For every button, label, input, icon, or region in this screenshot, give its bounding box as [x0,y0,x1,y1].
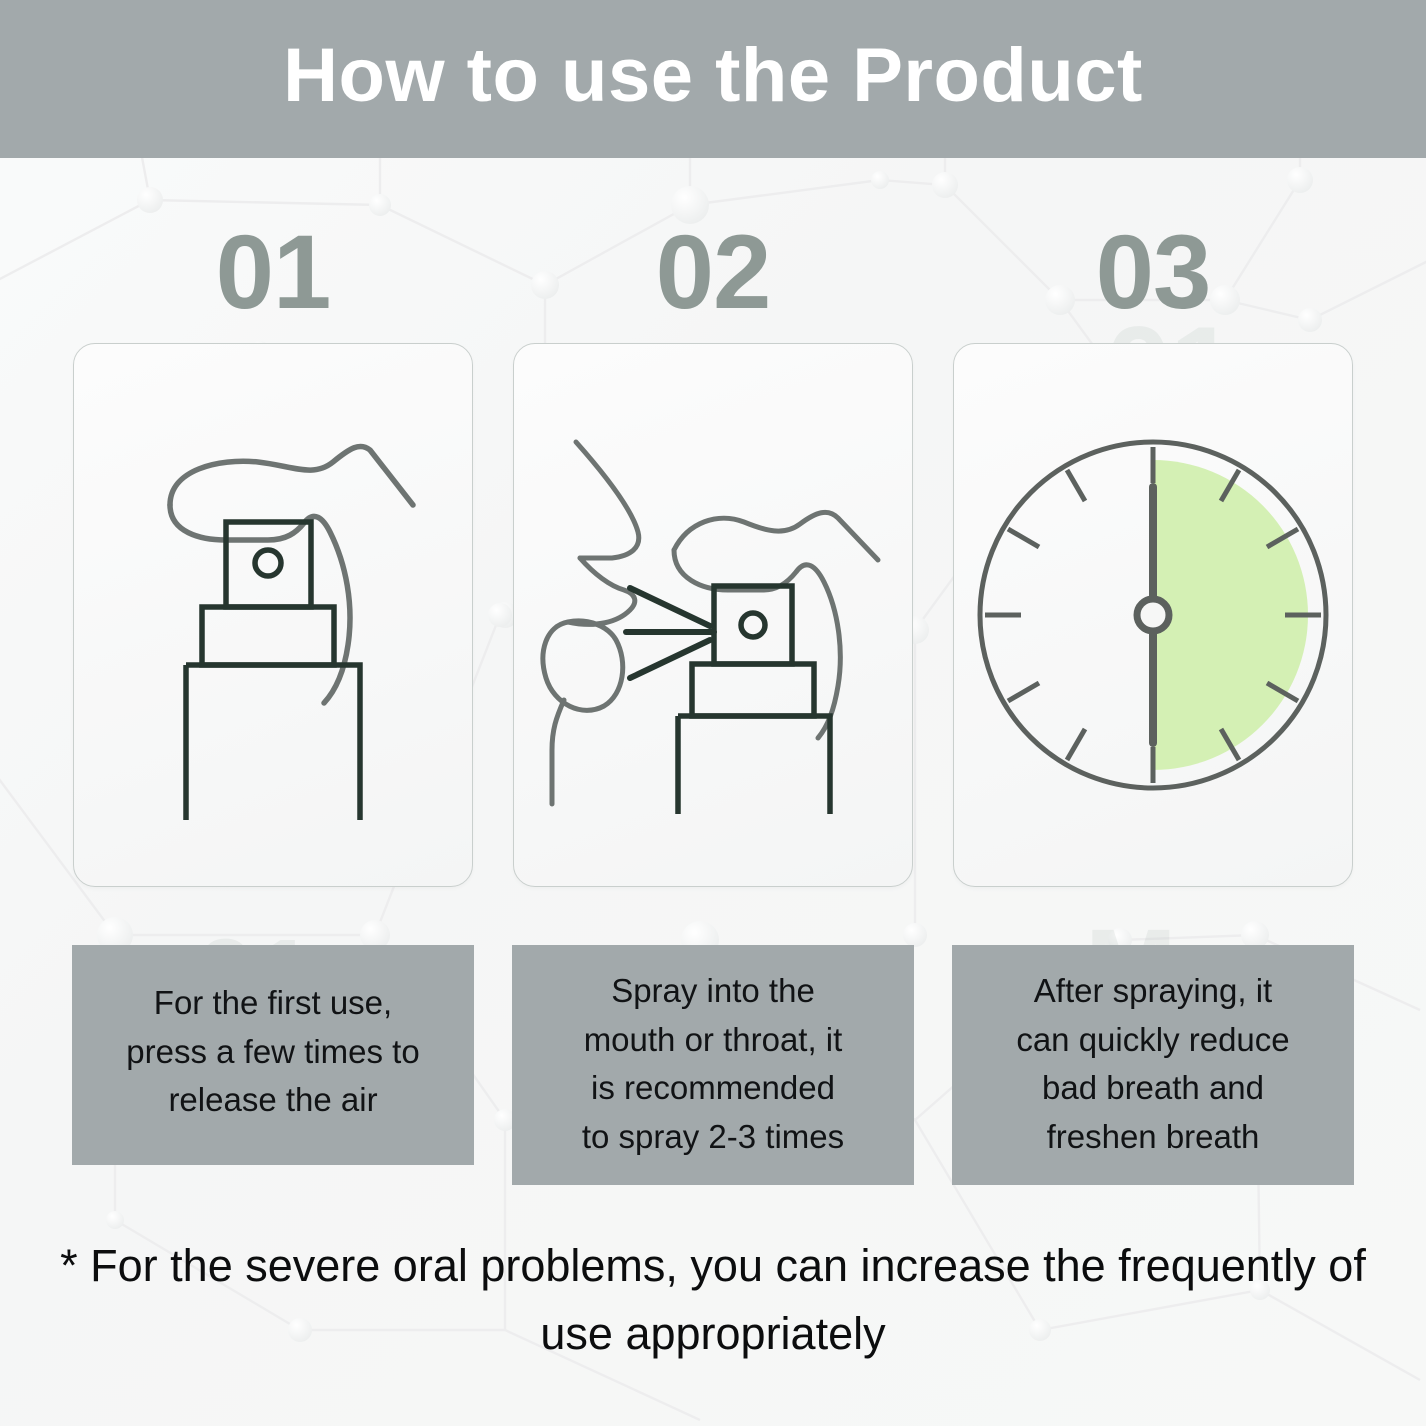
step-card-01 [73,343,473,887]
step-card-02 [513,343,913,887]
hand-pressing-spray-bottle-icon [108,400,438,830]
step-caption-02: Spray into the mouth or throat, it is re… [512,945,914,1185]
caption-line: bad breath and [962,1064,1344,1113]
caption-line: freshen breath [962,1113,1344,1162]
clock-half-highlighted-icon [973,435,1333,795]
caption-line: is recommended [522,1064,904,1113]
header-bar: How to use the Product [0,0,1426,158]
step-number-01: 01 [216,220,331,325]
step-03: 03 [952,158,1354,1185]
caption-line: mouth or throat, it [522,1016,904,1065]
infographic-canvas: 01 01 M How to use the Product 01 [0,0,1426,1426]
step-02: 02 [512,158,914,1185]
caption-line: press a few times to [82,1028,464,1077]
step-card-03 [953,343,1353,887]
footnote-text: * For the severe oral problems, you can … [50,1232,1376,1369]
caption-line: release the air [82,1076,464,1125]
step-caption-01: For the first use, press a few times to … [72,945,474,1165]
caption-line: For the first use, [82,979,464,1028]
caption-line: After spraying, it [962,967,1344,1016]
caption-line: to spray 2-3 times [522,1113,904,1162]
step-number-03: 03 [1096,220,1211,325]
face-spraying-mouth-icon [538,400,888,830]
steps-row: 01 [72,158,1354,1185]
step-caption-03: After spraying, it can quickly reduce ba… [952,945,1354,1185]
page-title: How to use the Product [283,38,1143,120]
step-01: 01 [72,158,474,1185]
step-number-02: 02 [656,220,771,325]
caption-line: Spray into the [522,967,904,1016]
caption-line: can quickly reduce [962,1016,1344,1065]
